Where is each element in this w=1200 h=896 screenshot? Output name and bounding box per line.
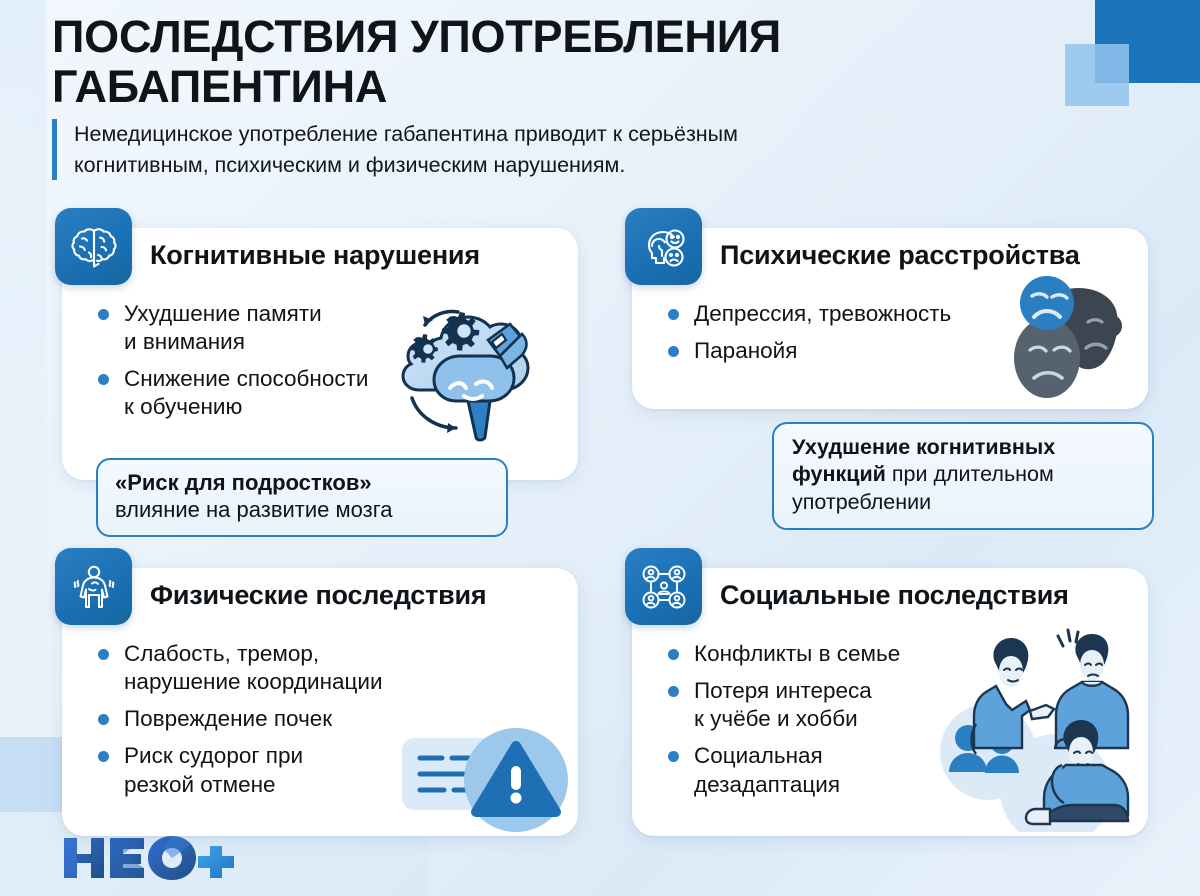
highlight-teen-risk-bold: «Риск для подростков» [115, 470, 372, 495]
card-mental: Психические расстройства Депрессия, трев… [632, 228, 1148, 409]
list-item: Паранойя [666, 337, 1128, 365]
card-title-social: Социальные последствия [720, 580, 1069, 611]
list-item: Риск судорог при резкой отмене [96, 742, 558, 798]
callout-long-term-use: Ухудшение когнитивных функций при длител… [772, 422, 1154, 530]
bullet-list-physical: Слабость, тремор, нарушение координации … [96, 640, 558, 808]
list-item: Снижение способности к обучению [96, 365, 558, 421]
subtitle-container: Немедицинское употребление габапентина п… [52, 119, 1074, 180]
list-item: Конфликты в семье [666, 640, 1128, 668]
card-physical: Физические последствия Слабость, тремор,… [62, 568, 578, 836]
highlight-teen-risk: «Риск для подростков» влияние на развити… [96, 458, 508, 537]
card-title-physical: Физические последствия [150, 580, 487, 611]
logo-neo-plus: НЕО+ [60, 832, 240, 884]
decorative-square-light-blue-top-right [1065, 44, 1129, 106]
background-wash-left [0, 0, 46, 760]
bullet-list-mental: Депрессия, тревожность Паранойя [666, 300, 1128, 374]
decorative-square-light-blue-bottom-left [0, 737, 62, 812]
list-item: Повреждение почек [96, 705, 558, 733]
list-item: Ухудшение памяти и внимания [96, 300, 558, 356]
social-network-icon [625, 548, 702, 625]
body-tremor-icon [55, 548, 132, 625]
list-item: Слабость, тремор, нарушение координации [96, 640, 558, 696]
page-subtitle: Немедицинское употребление габапентина п… [74, 119, 1074, 180]
card-cognitive: Когнитивные нарушения [62, 228, 578, 480]
page-title: ПОСЛЕДСТВИЯ УПОТРЕБЛЕНИЯ ГАБАПЕНТИНА [52, 12, 1052, 113]
brain-icon [55, 208, 132, 285]
highlight-teen-risk-rest: влияние на развитие мозга [115, 497, 392, 522]
infographic-page: ПОСЛЕДСТВИЯ УПОТРЕБЛЕНИЯ ГАБАПЕНТИНА Нем… [0, 0, 1200, 896]
list-item: Социальная дезадаптация [666, 742, 1128, 798]
list-item: Потеря интереса к учёбе и хобби [666, 677, 1128, 733]
list-item: Депрессия, тревожность [666, 300, 1128, 328]
bullet-list-social: Конфликты в семье Потеря интереса к учёб… [666, 640, 1128, 808]
head-emotions-icon [625, 208, 702, 285]
bullet-list-cognitive: Ухудшение памяти и внимания Снижение спо… [96, 300, 558, 431]
card-social: Социальные последствия [632, 568, 1148, 836]
card-title-mental: Психические расстройства [720, 240, 1080, 271]
card-title-cognitive: Когнитивные нарушения [150, 240, 480, 271]
